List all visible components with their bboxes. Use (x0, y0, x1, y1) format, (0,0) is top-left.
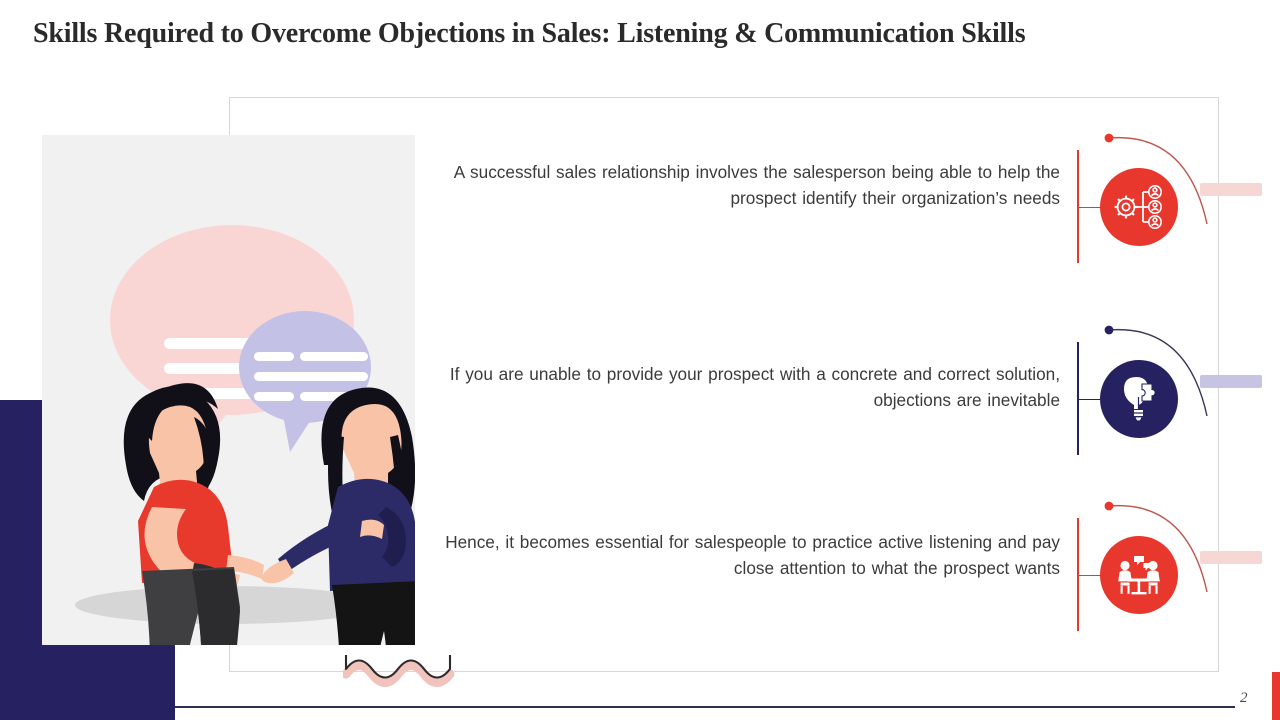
lightbulb-puzzle-icon (1100, 360, 1178, 438)
red-edge-tab (1272, 672, 1280, 720)
page-title: Skills Required to Overcome Objections i… (33, 18, 1233, 50)
point-text-1: A successful sales relationship involves… (440, 160, 1060, 212)
point-text-3: Hence, it becomes essential for salespeo… (440, 530, 1060, 582)
wave-squiggle-decoration (343, 652, 458, 688)
slide-canvas: Skills Required to Overcome Objections i… (0, 0, 1280, 720)
tail-bar-1 (1200, 183, 1262, 196)
point-row-3: Hence, it becomes essential for salespeo… (440, 530, 1230, 645)
gear-people-icon (1100, 168, 1178, 246)
illustration-card (42, 135, 415, 645)
tail-bar-2 (1200, 375, 1262, 388)
tail-bar-3 (1200, 551, 1262, 564)
footer-divider (175, 706, 1235, 708)
page-number: 2 (1240, 690, 1248, 707)
meeting-discussion-icon (1100, 536, 1178, 614)
point-row-1: A successful sales relationship involves… (440, 160, 1230, 275)
point-text-2: If you are unable to provide your prospe… (440, 362, 1060, 414)
point-row-2: If you are unable to provide your prospe… (440, 362, 1230, 452)
two-women-conversation-illustration (42, 135, 415, 645)
